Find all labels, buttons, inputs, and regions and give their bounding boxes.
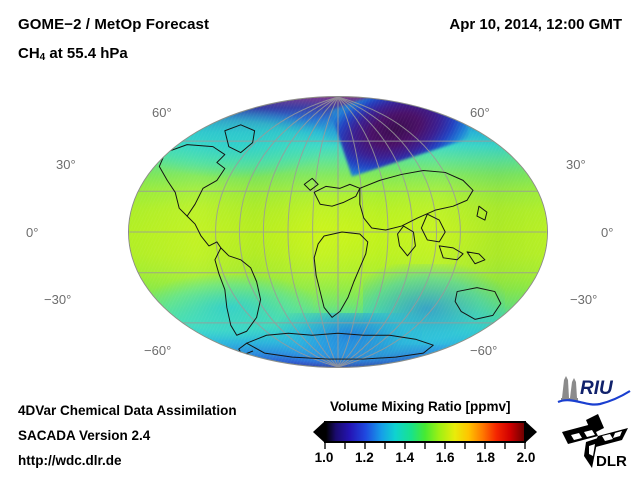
degree-symbol: ° <box>166 105 171 120</box>
colorbar-tick <box>444 443 446 449</box>
lat-label-right-30: 30° <box>566 157 586 172</box>
lat-value: −30 <box>570 292 592 307</box>
coastlines <box>129 97 547 367</box>
colorbar-tick <box>424 443 426 449</box>
colorbar-tick <box>464 443 466 449</box>
degree-symbol: ° <box>492 343 497 358</box>
lat-label-left-m60: −60° <box>144 343 171 358</box>
colorbar-tick <box>384 443 386 449</box>
colorbar <box>313 421 537 443</box>
degree-symbol: ° <box>592 292 597 307</box>
colorbar-tick <box>344 443 346 449</box>
mollweide-globe <box>128 96 548 368</box>
lat-label-left-0: 0° <box>26 225 38 240</box>
colorbar-ticks <box>324 443 526 449</box>
assimilation-label: 4DVar Chemical Data Assimilation <box>18 403 237 418</box>
lat-label-left-30: 30° <box>56 157 76 172</box>
colorbar-extend-max-arrow <box>525 421 537 443</box>
degree-symbol: ° <box>70 157 75 172</box>
lat-value: 60 <box>152 105 166 120</box>
lat-label-left-60: 60° <box>152 105 172 120</box>
degree-symbol: ° <box>66 292 71 307</box>
colorbar-tick <box>504 443 506 449</box>
map-panel <box>128 96 548 368</box>
page-title: GOME−2 / MetOp Forecast <box>18 16 209 33</box>
timestamp-label: Apr 10, 2014, 12:00 GMT <box>449 16 622 33</box>
degree-symbol: ° <box>484 105 489 120</box>
lat-value: 30 <box>56 157 70 172</box>
colorbar-tick <box>484 443 486 449</box>
lat-value: −60 <box>470 343 492 358</box>
lat-value: −60 <box>144 343 166 358</box>
degree-symbol: ° <box>608 225 613 240</box>
website-link[interactable]: http://wdc.dlr.de <box>18 453 122 468</box>
lat-value: −30 <box>44 292 66 307</box>
lat-label-right-m60: −60° <box>470 343 497 358</box>
colorbar-tick-label: 2.0 <box>517 450 536 465</box>
species-prefix: CH <box>18 45 40 62</box>
lat-label-left-m30: −30° <box>44 292 71 307</box>
degree-symbol: ° <box>580 157 585 172</box>
degree-symbol: ° <box>166 343 171 358</box>
riu-wordmark: RIU <box>580 378 614 399</box>
species-level-label: CH4 at 55.4 hPa <box>18 45 128 63</box>
lat-value: 60 <box>470 105 484 120</box>
colorbar-tick-label: 1.0 <box>315 450 334 465</box>
degree-symbol: ° <box>33 225 38 240</box>
colorbar-tick-label: 1.4 <box>395 450 414 465</box>
colorbar-tick-label: 1.2 <box>355 450 374 465</box>
colorbar-tick-label: 1.6 <box>436 450 455 465</box>
lat-value: 30 <box>566 157 580 172</box>
colorbar-tick-labels: 1.01.21.41.61.82.0 <box>313 450 537 468</box>
colorbar-tick <box>364 443 366 449</box>
colorbar-title: Volume Mixing Ratio [ppmv] <box>330 399 511 414</box>
dlr-wordmark: DLR <box>596 453 627 470</box>
colorbar-tick <box>524 443 526 449</box>
species-suffix: at 55.4 hPa <box>45 45 128 62</box>
lat-label-right-60: 60° <box>470 105 490 120</box>
dlr-logo: DLR <box>558 412 632 472</box>
colorbar-tick <box>324 443 326 449</box>
colorbar-gradient <box>324 421 526 443</box>
version-label: SACADA Version 2.4 <box>18 428 150 443</box>
lat-label-right-0: 0° <box>601 225 613 240</box>
riu-logo: RIU <box>556 374 632 408</box>
lat-label-right-m30: −30° <box>570 292 597 307</box>
colorbar-tick <box>404 443 406 449</box>
colorbar-tick-label: 1.8 <box>476 450 495 465</box>
